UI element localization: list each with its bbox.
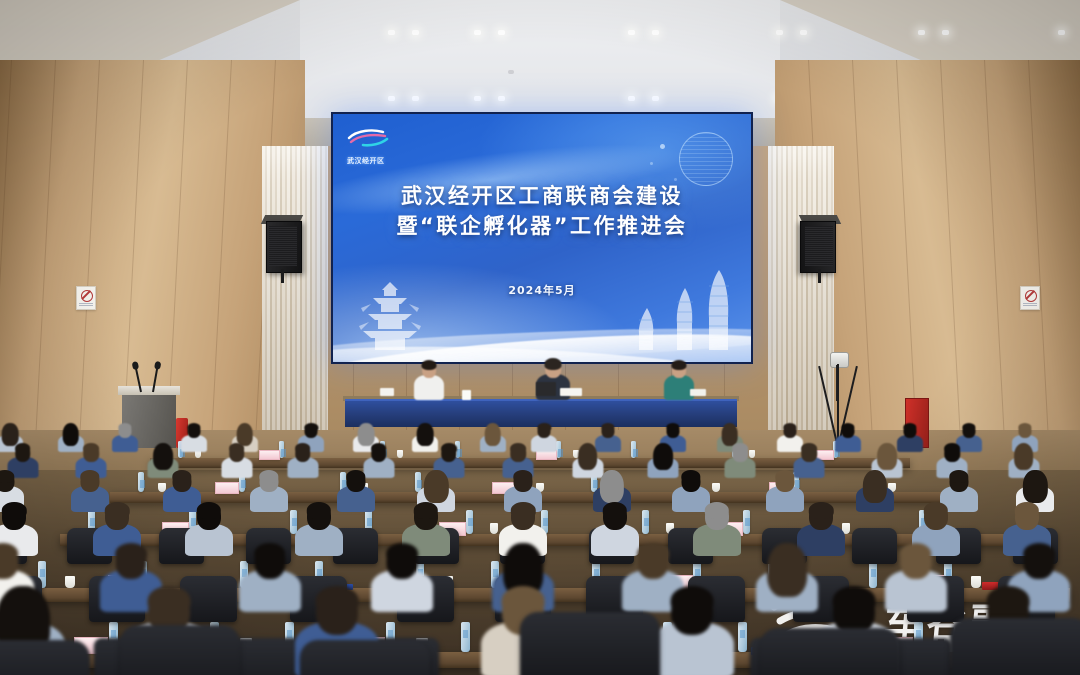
- water-bottle: [738, 622, 747, 652]
- audience-hair: [1014, 502, 1038, 519]
- ceiling-spotlight: [1058, 30, 1065, 35]
- audience-hair: [666, 423, 679, 432]
- audience-member: [756, 540, 818, 612]
- audience-hair: [306, 502, 330, 519]
- name-card: [215, 482, 239, 494]
- audience-hair: [414, 502, 438, 519]
- audience-hair: [196, 502, 220, 519]
- panelist-hair: [545, 358, 562, 370]
- panelist-hair: [672, 360, 687, 370]
- audience-long-hair: [1023, 470, 1047, 503]
- swoosh-logo-icon: [347, 128, 391, 148]
- screen-title: 武汉经开区工商联商会建设 暨“联企孵化器”工作推进会: [333, 182, 751, 242]
- audience-hair: [187, 423, 200, 432]
- audience-hair: [513, 470, 532, 483]
- ceiling-spotlight: [412, 30, 419, 35]
- ceiling-spotlight: [628, 96, 635, 101]
- audience-member: [250, 468, 288, 512]
- ceiling-spotlight: [388, 30, 395, 35]
- chair: [520, 612, 660, 675]
- ceiling-spotlight: [628, 30, 635, 35]
- audience-member: [239, 540, 301, 612]
- name-card: [259, 450, 279, 460]
- audience-hair: [900, 543, 932, 565]
- audience-member: [835, 422, 861, 452]
- audience-long-hair: [768, 543, 808, 597]
- audience-member: [693, 500, 741, 556]
- audience-member: [650, 582, 734, 675]
- chair: [760, 628, 900, 675]
- camera-icon: [830, 352, 849, 368]
- ceiling-spotlight: [942, 30, 949, 35]
- water-bottle: [138, 472, 144, 492]
- audience-member: [181, 422, 207, 452]
- ceiling-spotlight: [388, 96, 395, 101]
- halftone-ring-icon: [679, 132, 733, 186]
- ceiling-spotlight: [776, 30, 783, 35]
- audience-member: [295, 500, 343, 556]
- audience-hair: [105, 502, 129, 519]
- water-bottle: [642, 510, 649, 534]
- no-smoking-sign-left: [76, 286, 96, 310]
- chair: [300, 640, 430, 675]
- ceiling-spotlight: [498, 96, 505, 101]
- audience-hair: [962, 423, 975, 432]
- ceiling-spotlight: [498, 30, 505, 35]
- conference-photo-scene: 武汉经开区 武汉经开区工商联商会建设 暨“联企孵化器”工作推进会 2024年5月: [0, 0, 1080, 675]
- water-bottle: [631, 441, 636, 458]
- audience-member: [221, 442, 252, 478]
- audience-hair: [0, 543, 19, 565]
- audience-hair: [172, 470, 191, 483]
- ceiling-spotlight: [800, 30, 807, 35]
- audience-hair: [732, 443, 748, 454]
- audience-hair: [705, 502, 729, 519]
- audience-hair: [1019, 423, 1032, 432]
- screen-title-line1: 武汉经开区工商联商会建设: [401, 184, 683, 208]
- panelist-torso: [414, 375, 444, 400]
- ceiling-spotlight: [652, 30, 659, 35]
- ceiling-spotlight: [652, 96, 659, 101]
- audience-hair: [783, 423, 796, 432]
- audience-hair: [295, 443, 311, 454]
- water-bottle: [461, 622, 470, 652]
- audience-hair: [386, 543, 418, 565]
- audience-hair: [15, 443, 31, 454]
- no-smoking-sign-right: [1020, 286, 1040, 310]
- paper-cup: [65, 576, 75, 588]
- audience-hair: [371, 443, 387, 454]
- screen-dot: [660, 144, 665, 149]
- audience-hair: [2, 502, 26, 519]
- screen-dot: [674, 178, 677, 181]
- audience-hair: [903, 423, 916, 432]
- curtain-left: [262, 146, 328, 446]
- audience-hair: [809, 502, 833, 519]
- screen-title-line2: 暨“联企孵化器”工作推进会: [333, 212, 751, 242]
- audience-hair: [511, 502, 535, 519]
- paper-cup: [397, 450, 403, 458]
- audience-hair: [775, 470, 794, 483]
- audience-long-hair: [153, 443, 173, 470]
- audience-hair: [603, 502, 627, 519]
- audience-hair: [148, 586, 191, 615]
- audience-hair: [305, 423, 318, 432]
- audience-long-hair: [424, 470, 448, 503]
- loudspeaker-right: [800, 215, 836, 273]
- audience-hair: [601, 423, 614, 432]
- water-bottle: [466, 510, 473, 534]
- audience-long-hair: [578, 443, 598, 470]
- audience-member: [185, 500, 233, 556]
- audience-hair: [681, 470, 700, 483]
- audience-member: [371, 540, 433, 612]
- head-table-item: [560, 388, 582, 396]
- audience-hair: [944, 443, 960, 454]
- audience-member: [112, 422, 138, 452]
- audience-hair: [832, 586, 875, 615]
- panelist-hair: [422, 360, 437, 370]
- audience-hair: [638, 543, 670, 565]
- audience-long-hair: [484, 423, 501, 446]
- audience-hair: [538, 423, 551, 432]
- chair: [950, 618, 1080, 675]
- audience-hair: [670, 586, 713, 615]
- loudspeaker-left: [266, 215, 302, 273]
- audience-member: [725, 442, 756, 478]
- audience-hair: [441, 443, 457, 454]
- head-table-item: [462, 390, 471, 400]
- audience-long-hair: [1014, 443, 1034, 470]
- led-presentation-screen: 武汉经开区 武汉经开区工商联商会建设 暨“联企孵化器”工作推进会 2024年5月: [331, 112, 753, 364]
- panelist-torso: [664, 375, 694, 400]
- audience-hair: [501, 586, 544, 615]
- ceiling-spotlight: [412, 96, 419, 101]
- paper-cup: [712, 483, 720, 492]
- audience-hair: [259, 470, 278, 483]
- audience-member: [531, 422, 557, 452]
- chair: [0, 640, 90, 675]
- ceiling-center-panel: [300, 0, 780, 124]
- screen-logo: 武汉经开区: [347, 128, 409, 168]
- audience-hair: [115, 543, 147, 565]
- audience-hair: [841, 423, 854, 432]
- audience-hair: [80, 470, 99, 483]
- paper-cup: [490, 523, 499, 534]
- audience-hair: [229, 443, 245, 454]
- audience-long-hair: [862, 470, 886, 503]
- audience-member: [856, 468, 894, 512]
- head-table-item: [380, 388, 394, 396]
- audience-member: [287, 442, 318, 478]
- ceiling-spotlight: [474, 96, 481, 101]
- panelist: [414, 360, 444, 400]
- water-bottle: [279, 441, 284, 458]
- screen-logo-text: 武汉经开区: [347, 156, 409, 166]
- audience-long-hair: [877, 443, 897, 470]
- audience-hair: [83, 443, 99, 454]
- audience-long-hair: [653, 443, 673, 470]
- audience-hair: [346, 470, 365, 483]
- audience-hair: [254, 543, 286, 565]
- water-bottle: [743, 510, 750, 534]
- chair: [120, 625, 240, 675]
- head-table-item: [690, 389, 706, 396]
- screen-dot: [650, 162, 653, 165]
- audience-long-hair: [600, 470, 624, 503]
- ceiling-spotlight: [918, 30, 925, 35]
- audience-hair: [510, 443, 526, 454]
- audience-hair: [118, 423, 131, 432]
- ceiling-spotlight: [508, 70, 514, 74]
- audience-hair: [987, 586, 1030, 615]
- audience-hair: [802, 443, 818, 454]
- audience-hair: [1023, 543, 1055, 565]
- head-table-item: [536, 382, 556, 396]
- audience-hair: [923, 502, 947, 519]
- ceiling-spotlight: [474, 30, 481, 35]
- audience-hair: [316, 586, 359, 615]
- screen-date: 2024年5月: [333, 282, 751, 298]
- audience-long-hair: [417, 423, 434, 446]
- audience-hair: [949, 470, 968, 483]
